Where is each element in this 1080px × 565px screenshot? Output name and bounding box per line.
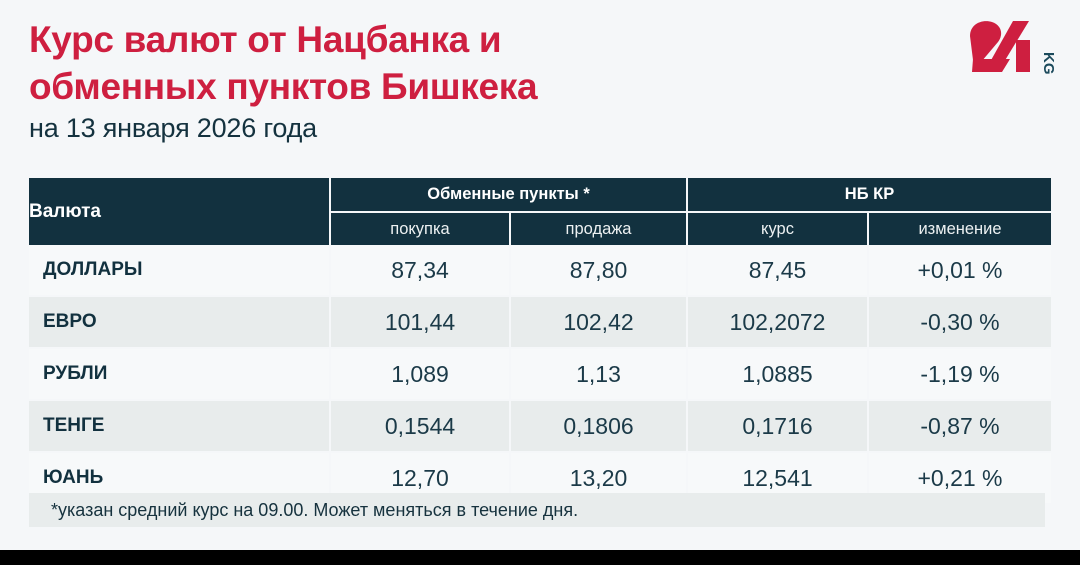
table-header-row-groups: Валюта Обменные пункты * НБ КР bbox=[29, 178, 1051, 212]
cell-rate: 102,2072 bbox=[687, 296, 868, 348]
table-row: ДОЛЛАРЫ 87,34 87,80 87,45 +0,01 % bbox=[29, 245, 1051, 296]
currency-rates-table: Валюта Обменные пункты * НБ КР покупка п… bbox=[29, 178, 1051, 505]
cell-currency-name: ТЕНГЕ bbox=[29, 400, 330, 452]
logo-24kg-icon: KG bbox=[966, 18, 1058, 74]
page-subtitle-date: на 13 января 2026 года bbox=[29, 113, 317, 144]
cell-sell: 0,1806 bbox=[510, 400, 687, 452]
cell-rate: 0,1716 bbox=[687, 400, 868, 452]
column-header-rate: курс bbox=[687, 212, 868, 245]
svg-text:KG: KG bbox=[1040, 52, 1057, 74]
column-header-buy: покупка bbox=[330, 212, 510, 245]
infographic-page: Курс валют от Нацбанка и обменных пункто… bbox=[0, 0, 1080, 565]
page-title-line-1: Курс валют от Нацбанка и bbox=[29, 16, 729, 63]
column-group-exchange-offices: Обменные пункты * bbox=[330, 178, 687, 212]
cell-sell: 87,80 bbox=[510, 245, 687, 296]
table-footnote: *указан средний курс на 09.00. Может мен… bbox=[29, 493, 1045, 527]
cell-buy: 0,1544 bbox=[330, 400, 510, 452]
cell-rate: 1,0885 bbox=[687, 348, 868, 400]
cell-change: -0,30 % bbox=[868, 296, 1051, 348]
cell-buy: 1,089 bbox=[330, 348, 510, 400]
cell-buy: 101,44 bbox=[330, 296, 510, 348]
cell-buy: 87,34 bbox=[330, 245, 510, 296]
column-header-sell: продажа bbox=[510, 212, 687, 245]
column-group-nbkr: НБ КР bbox=[687, 178, 1051, 212]
table-row: ЕВРО 101,44 102,42 102,2072 -0,30 % bbox=[29, 296, 1051, 348]
cell-change: +0,01 % bbox=[868, 245, 1051, 296]
page-title: Курс валют от Нацбанка и обменных пункто… bbox=[29, 16, 729, 111]
cell-change: -0,87 % bbox=[868, 400, 1051, 452]
table-row: РУБЛИ 1,089 1,13 1,0885 -1,19 % bbox=[29, 348, 1051, 400]
table-body: ДОЛЛАРЫ 87,34 87,80 87,45 +0,01 % ЕВРО 1… bbox=[29, 245, 1051, 504]
bottom-bar bbox=[0, 550, 1080, 565]
cell-currency-name: ДОЛЛАРЫ bbox=[29, 245, 330, 296]
cell-currency-name: ЕВРО bbox=[29, 296, 330, 348]
column-header-change: изменение bbox=[868, 212, 1051, 245]
cell-rate: 87,45 bbox=[687, 245, 868, 296]
cell-sell: 102,42 bbox=[510, 296, 687, 348]
table-header: Валюта Обменные пункты * НБ КР покупка п… bbox=[29, 178, 1051, 245]
table-row: ТЕНГЕ 0,1544 0,1806 0,1716 -0,87 % bbox=[29, 400, 1051, 452]
footnote-text: *указан средний курс на 09.00. Может мен… bbox=[51, 500, 578, 521]
brand-logo-24kg[interactable]: KG bbox=[966, 18, 1058, 74]
cell-currency-name: РУБЛИ bbox=[29, 348, 330, 400]
cell-sell: 1,13 bbox=[510, 348, 687, 400]
page-title-line-2: обменных пунктов Бишкека bbox=[29, 63, 729, 110]
column-header-currency: Валюта bbox=[29, 178, 330, 245]
cell-change: -1,19 % bbox=[868, 348, 1051, 400]
